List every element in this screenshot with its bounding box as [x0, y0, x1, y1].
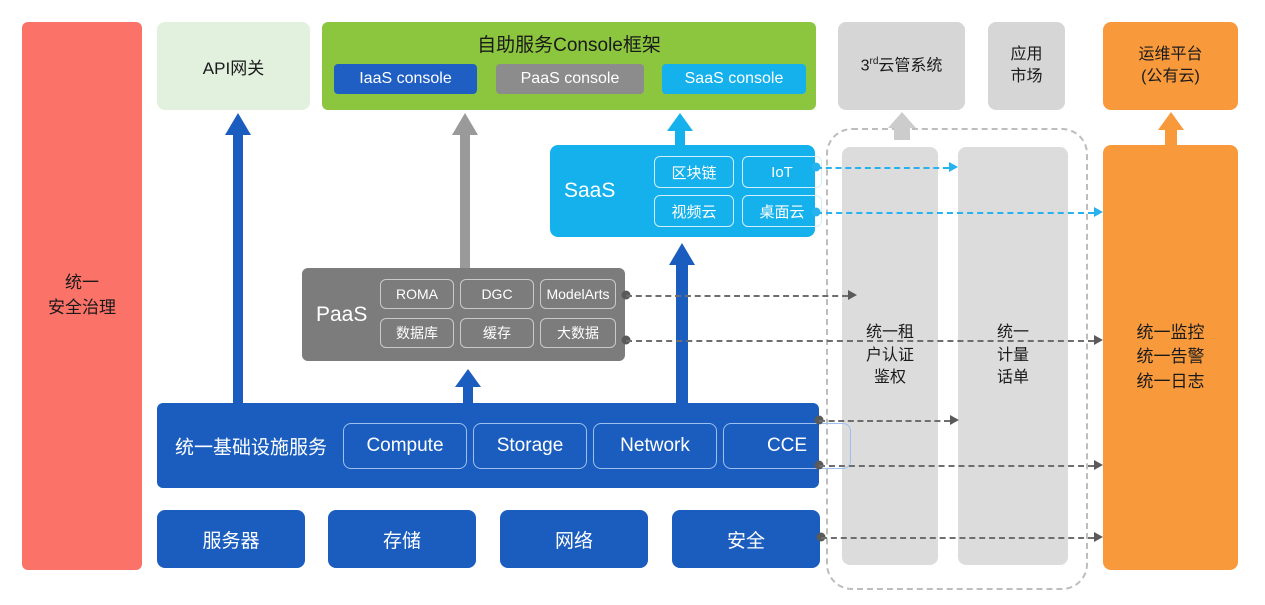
arrow-infra-to-api-gateway: [225, 113, 251, 403]
unified-monitoring-panel: 统一监控 统一告警 统一日志: [1103, 145, 1238, 570]
hardware-security-label: 安全: [727, 526, 765, 553]
paas-console-label: PaaS console: [521, 70, 620, 88]
saas-chip-video-cloud[interactable]: 视频云: [654, 195, 734, 227]
governance-line-1: 统一: [48, 271, 116, 296]
meter-line-2: 计量: [997, 345, 1029, 367]
self-service-console-frame: 自助服务Console框架 IaaS console PaaS console …: [322, 22, 816, 110]
saas-chip-iot[interactable]: IoT: [742, 156, 822, 188]
api-gateway-label: API网关: [203, 54, 264, 79]
meter-line-3: 话单: [997, 367, 1029, 389]
arrow-shared-services-to-third-party-cloud: [888, 112, 916, 140]
hardware-network-box: 网络: [500, 510, 648, 568]
unified-infrastructure-service-box: 统一基础设施服务 Compute Storage Network CCE: [157, 403, 819, 488]
connector-arrowhead-paas-auth: [848, 290, 857, 300]
infrastructure-label: 统一基础设施服务: [175, 432, 327, 459]
iaas-console-chip[interactable]: IaaS console: [334, 64, 477, 94]
paas-label: PaaS: [316, 303, 367, 327]
connector-arrowhead-hardware-ops: [1094, 532, 1103, 542]
console-frame-title: 自助服务Console框架: [322, 30, 816, 57]
arrow-infra-to-paas: [455, 369, 481, 404]
governance-line-2: 安全治理: [48, 296, 116, 321]
paas-chip-database[interactable]: 数据库: [380, 318, 454, 348]
connector-saas-to-auth: [816, 167, 949, 169]
arrow-saas-to-saas-console: [667, 113, 693, 146]
ops-top-line-2: (公有云): [1138, 66, 1202, 88]
infra-chip-storage[interactable]: Storage: [473, 423, 587, 469]
arrow-to-ops-platform: [1157, 112, 1185, 146]
connector-arrowhead-saas-auth: [949, 162, 958, 172]
auth-line-3: 鉴权: [866, 367, 914, 389]
saas-chip-blockchain[interactable]: 区块链: [654, 156, 734, 188]
hardware-network-label: 网络: [555, 526, 593, 553]
app-market-line-2: 市场: [1010, 66, 1042, 88]
arrow-paas-to-console: [452, 113, 478, 268]
saas-console-chip[interactable]: SaaS console: [662, 64, 806, 94]
saas-chip-desktop-cloud[interactable]: 桌面云: [742, 195, 822, 227]
saas-label: SaaS: [564, 179, 615, 203]
unified-security-governance-panel: 统一 安全治理: [22, 22, 142, 570]
connector-infra-to-ops: [819, 465, 1094, 467]
hardware-server-label: 服务器: [202, 526, 259, 553]
unified-metering-billing-column: 统一 计量 话单: [958, 147, 1068, 565]
paas-chip-dgc[interactable]: DGC: [460, 279, 534, 309]
api-gateway-box: API网关: [157, 22, 310, 110]
connector-paas-to-auth: [626, 295, 848, 297]
ops-platform-public-cloud-box: 运维平台 (公有云): [1103, 22, 1238, 110]
ops-top-line-1: 运维平台: [1138, 44, 1202, 66]
saas-console-label: SaaS console: [685, 70, 784, 88]
arrow-infra-to-saas: [668, 243, 696, 404]
paas-chip-cache[interactable]: 缓存: [460, 318, 534, 348]
app-market-line-1: 应用: [1010, 44, 1042, 66]
connector-infra-to-auth: [819, 420, 950, 422]
iaas-console-label: IaaS console: [359, 70, 452, 88]
infra-chip-compute[interactable]: Compute: [343, 423, 467, 469]
paas-chip-roma[interactable]: ROMA: [380, 279, 454, 309]
ops-line-2: 统一告警: [1137, 345, 1205, 370]
connector-paas-to-ops: [626, 340, 1094, 342]
saas-box: SaaS 区块链 IoT 视频云 桌面云: [550, 145, 815, 237]
paas-console-chip[interactable]: PaaS console: [496, 64, 644, 94]
app-market-box: 应用 市场: [988, 22, 1065, 110]
ops-line-1: 统一监控: [1137, 321, 1205, 346]
connector-hardware-to-ops: [821, 537, 1094, 539]
connector-saas-to-ops: [816, 212, 1094, 214]
architecture-diagram: 统一 安全治理 API网关 自助服务Console框架 IaaS console…: [0, 0, 1265, 605]
infra-chip-cce[interactable]: CCE: [723, 423, 851, 469]
unified-tenant-auth-column: 统一租 户认证 鉴权: [842, 147, 938, 565]
hardware-security-box: 安全: [672, 510, 820, 568]
third-party-cloud-management-box: 3rd云管系统: [838, 22, 965, 110]
connector-arrowhead-infra-auth: [950, 415, 959, 425]
paas-box: PaaS ROMA DGC ModelArts 数据库 缓存 大数据: [302, 268, 625, 361]
connector-arrowhead-saas-ops: [1094, 207, 1103, 217]
paas-chip-modelarts[interactable]: ModelArts: [540, 279, 616, 309]
hardware-storage-box: 存储: [328, 510, 476, 568]
hardware-storage-label: 存储: [383, 526, 421, 553]
ops-line-3: 统一日志: [1137, 370, 1205, 395]
third-party-label: 3rd云管系统: [861, 55, 943, 77]
connector-arrowhead-infra-ops: [1094, 460, 1103, 470]
hardware-server-box: 服务器: [157, 510, 305, 568]
auth-line-2: 户认证: [866, 345, 914, 367]
connector-arrowhead-paas-ops: [1094, 335, 1103, 345]
paas-chip-bigdata[interactable]: 大数据: [540, 318, 616, 348]
infra-chip-network[interactable]: Network: [593, 423, 717, 469]
